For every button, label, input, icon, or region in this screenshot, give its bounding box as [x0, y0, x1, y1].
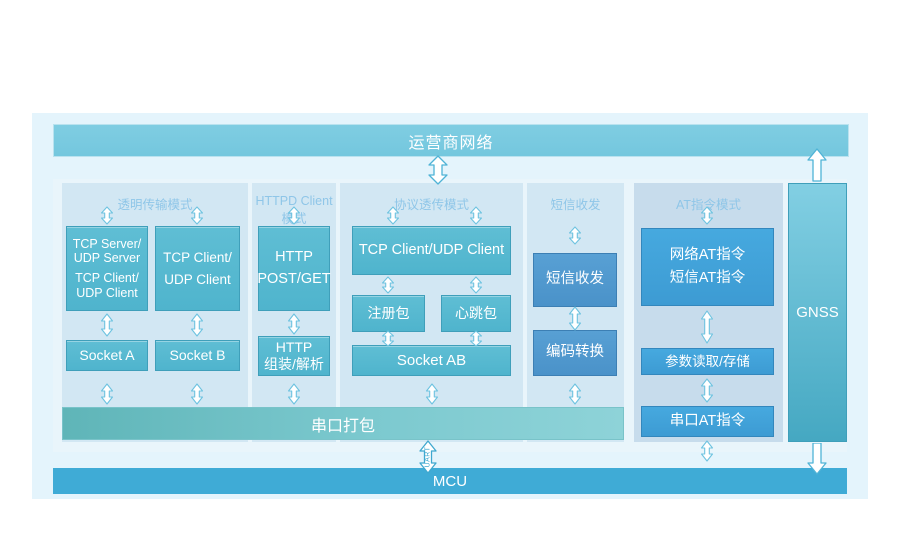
arrow-small-httpd-top-icon	[287, 206, 301, 225]
box-http-assemble-parse[interactable]: HTTP 组装/解析	[258, 336, 330, 376]
arrow-small-sms-bottom-icon	[568, 383, 582, 405]
box-line: 网络AT指令	[670, 247, 745, 264]
box-line: Socket B	[169, 347, 225, 364]
box-line: UDP Client	[73, 286, 142, 301]
box-line: 注册包	[368, 305, 410, 322]
box-socket-b[interactable]: Socket B	[155, 340, 240, 371]
box-http-post-get[interactable]: HTTP POST/GET	[258, 226, 330, 311]
box-line: TCP Client/	[163, 250, 232, 266]
box-parameter-read-store[interactable]: 参数读取/存储	[641, 348, 774, 375]
box-line: 串口AT指令	[670, 413, 745, 430]
box-socket-ab[interactable]: Socket AB	[352, 345, 511, 376]
box-line: 短信收发	[546, 271, 604, 288]
operator-network-label: 运营商网络	[408, 129, 493, 153]
box-line: TCP Client/	[73, 271, 142, 286]
arrow-small-protocol-a-icon	[386, 206, 400, 225]
box-line: 参数读取/存储	[665, 354, 750, 370]
arrow-small-protocol-b-icon	[469, 206, 483, 225]
panel-title-protocol: 协议透传模式	[340, 194, 523, 213]
arrow-small-protocol-hb-bot-icon	[469, 330, 483, 347]
box-line: TCP Server/	[73, 237, 142, 252]
arrow-small-socket-b-bottom-icon	[190, 383, 204, 405]
box-socket-a[interactable]: Socket A	[66, 340, 148, 371]
operator-network-bar: 运营商网络	[53, 124, 849, 157]
box-register-packet[interactable]: 注册包	[352, 295, 425, 332]
box-line: 组装/解析	[264, 356, 324, 373]
uart-label-wrap: UART	[417, 440, 439, 474]
box-line: Socket A	[79, 347, 134, 364]
mcu-label: MCU	[433, 473, 467, 490]
arrow-small-socket-a-bottom-icon	[100, 383, 114, 405]
box-line: 短信AT指令	[670, 270, 745, 287]
box-line: UDP Server	[73, 251, 142, 266]
uart-label: UART	[425, 447, 432, 468]
arrow-small-transparent-b-icon	[190, 206, 204, 225]
panel-transparent-mode: 透明传输模式	[62, 183, 248, 442]
box-tcp-client-udp-client[interactable]: TCP Client/ UDP Client	[155, 226, 240, 311]
arrow-small-at-top-icon	[700, 206, 714, 225]
box-uart-at-command[interactable]: 串口AT指令	[641, 406, 774, 437]
arrow-small-httpd-mid-icon	[287, 313, 301, 335]
arrow-small-transparent-a-mid-icon	[100, 313, 114, 337]
arrow-small-transparent-a-icon	[100, 206, 114, 225]
arrow-operator-to-protocol-icon	[427, 155, 449, 185]
serial-packing-label: 串口打包	[311, 412, 375, 436]
arrow-small-at-param-icon	[700, 378, 714, 403]
arrow-small-transparent-b-mid-icon	[190, 313, 204, 337]
arrow-small-sms-mid-icon	[568, 306, 582, 331]
box-line: HTTP	[257, 249, 330, 266]
panel-title-transparent: 透明传输模式	[62, 194, 248, 213]
box-heartbeat-packet[interactable]: 心跳包	[441, 295, 511, 332]
arrow-small-protocol-reg-icon	[381, 276, 395, 294]
box-line: HTTP	[264, 339, 324, 356]
box-line: TCP Client/UDP Client	[359, 242, 504, 259]
box-line: Socket AB	[397, 352, 466, 370]
arrow-gnss-down-icon	[806, 443, 828, 475]
box-network-at-sms-at-commands[interactable]: 网络AT指令 短信AT指令	[641, 228, 774, 306]
box-sms-send-receive[interactable]: 短信收发	[533, 253, 617, 307]
arrow-gnss-up-icon	[806, 148, 828, 182]
box-line: 心跳包	[455, 305, 497, 322]
arrow-small-socket-ab-bottom-icon	[425, 383, 439, 405]
box-encoding-conversion[interactable]: 编码转换	[533, 330, 617, 376]
arrow-small-at-mid-icon	[700, 310, 714, 344]
arrow-small-protocol-hb-icon	[469, 276, 483, 294]
diagram-canvas: 运营商网络 透明传输模式 TCP Server/ UDP Server TCP …	[0, 0, 900, 549]
gnss-column[interactable]: GNSS	[788, 183, 847, 442]
box-tcp-server-udp-server[interactable]: TCP Server/ UDP Server TCP Client/ UDP C…	[66, 226, 148, 311]
box-tcp-client-udp-client-protocol[interactable]: TCP Client/UDP Client	[352, 226, 511, 275]
box-line: 编码转换	[546, 344, 604, 361]
panel-title-sms: 短信收发	[527, 194, 624, 213]
arrow-small-sms-top-icon	[568, 226, 582, 245]
arrow-small-protocol-reg-bot-icon	[381, 330, 395, 347]
arrow-small-httpd-bottom-icon	[287, 383, 301, 405]
box-line: POST/GET	[257, 271, 330, 288]
arrow-small-at-bottom-icon	[700, 440, 714, 462]
gnss-label: GNSS	[796, 304, 839, 321]
serial-packing-bar: 串口打包	[62, 407, 624, 440]
mcu-bar: MCU	[53, 468, 847, 494]
box-line: UDP Client	[163, 272, 232, 288]
